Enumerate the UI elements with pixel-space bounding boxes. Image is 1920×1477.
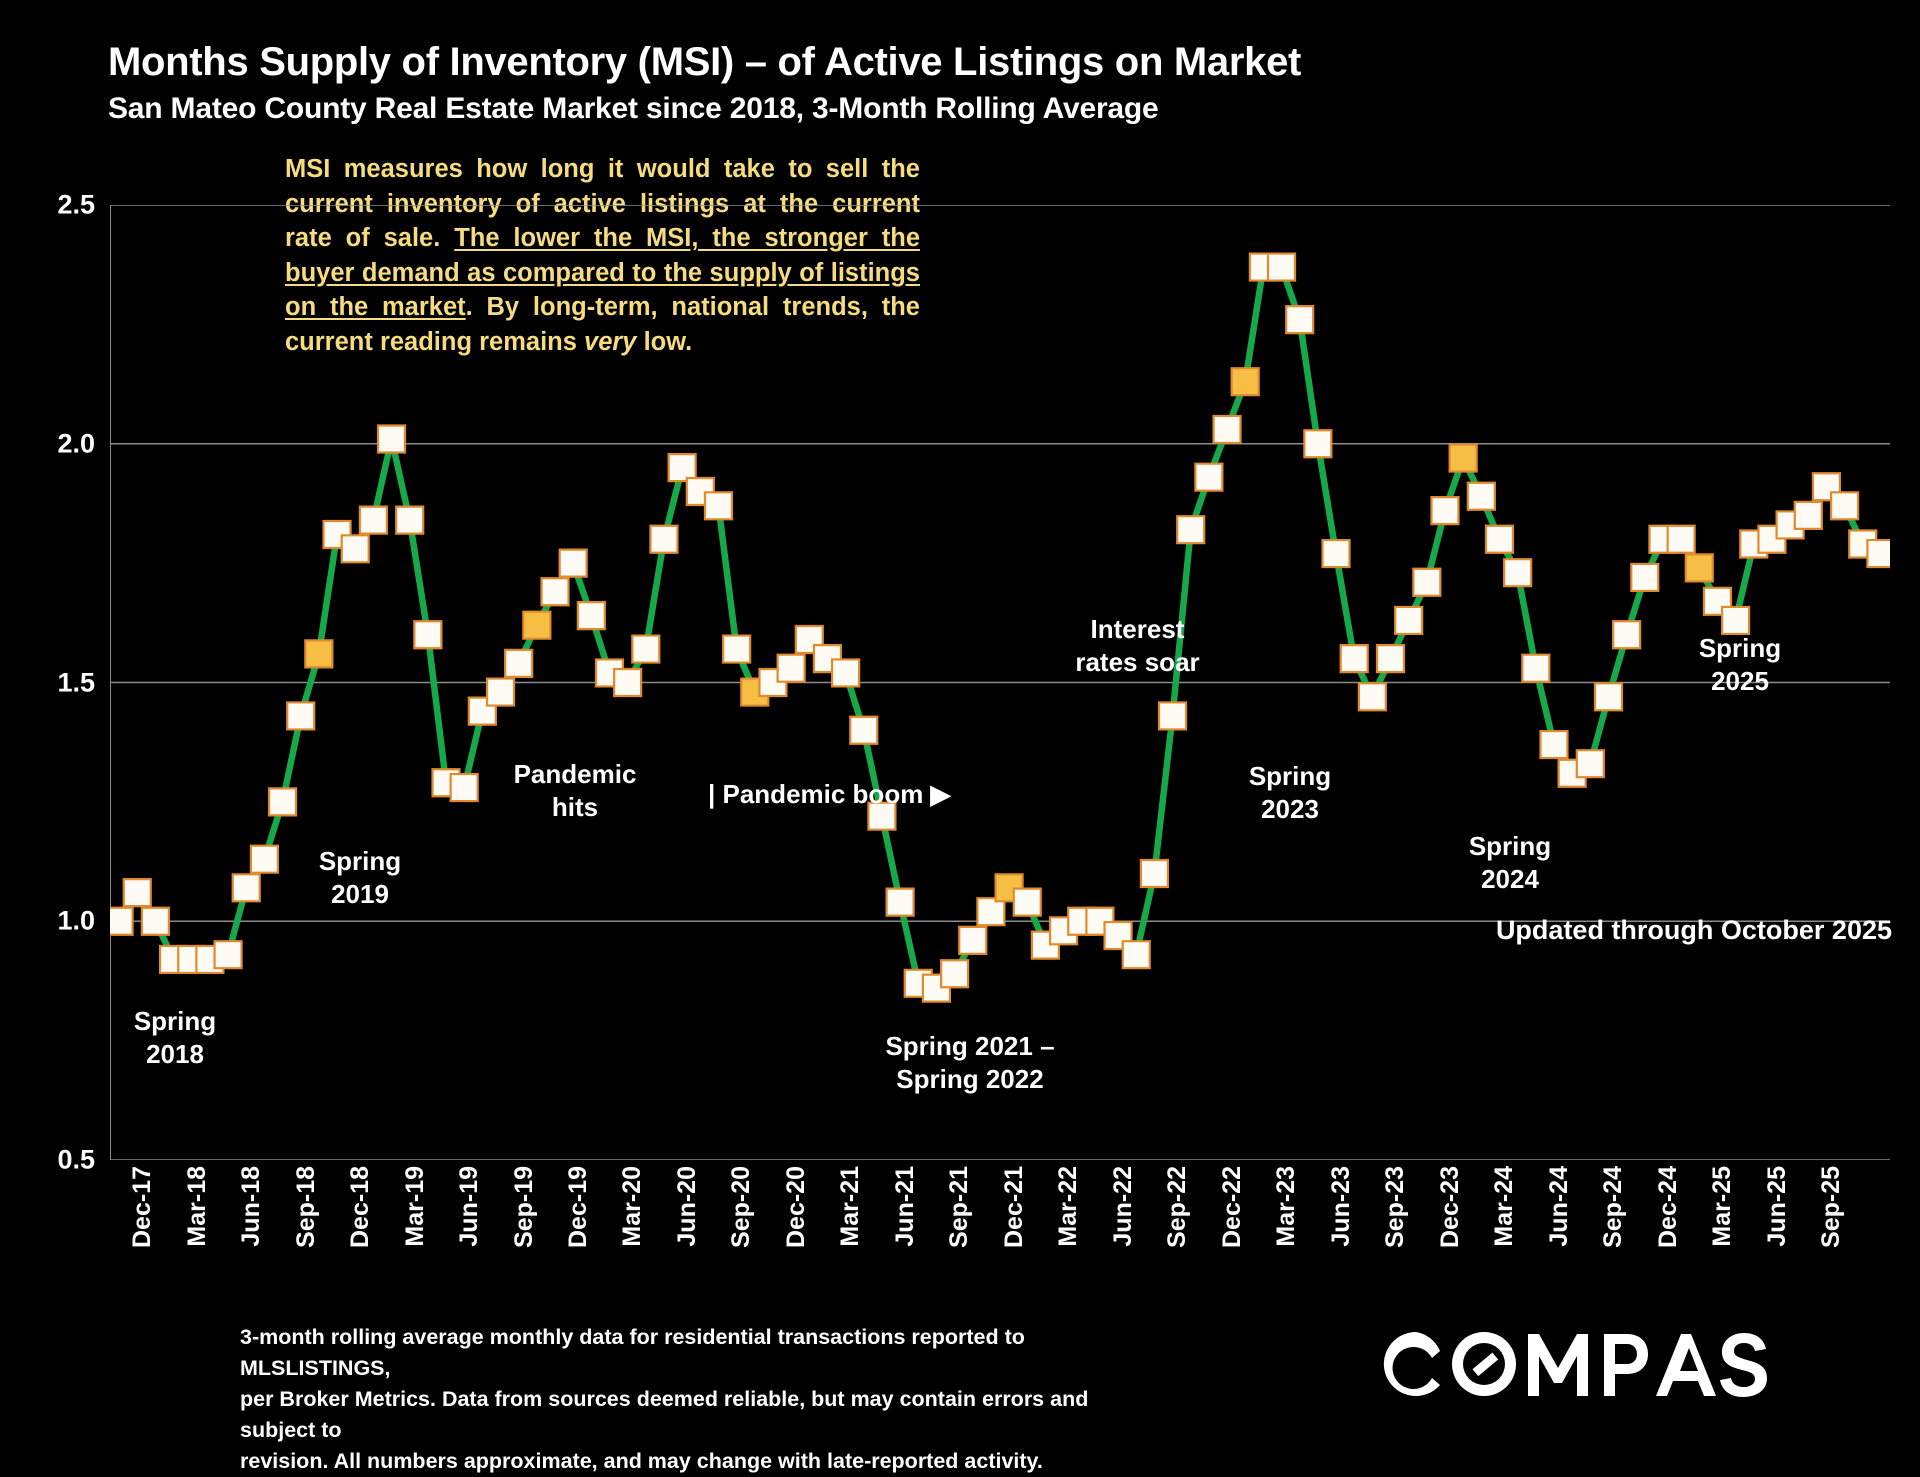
data-point-marker — [1595, 683, 1622, 710]
data-point-marker — [378, 425, 405, 452]
msi-line-chart — [110, 205, 1890, 1160]
annotation-spring-2023: Spring 2023 — [1215, 760, 1365, 826]
data-point-marker — [1395, 607, 1422, 634]
data-point-marker — [1177, 516, 1204, 543]
x-tick-label: Dec-22 — [1218, 1166, 1247, 1248]
data-point-marker — [287, 702, 314, 729]
annotation-pandemic-hits: Pandemic hits — [500, 758, 650, 824]
data-point-marker — [1304, 430, 1331, 457]
x-tick-label: Sep-21 — [945, 1166, 974, 1248]
x-tick-label: Dec-23 — [1436, 1166, 1465, 1248]
data-point-marker — [342, 535, 369, 562]
annotation-spring-2021-2022: Spring 2021 – Spring 2022 — [830, 1030, 1110, 1096]
page-title: Months Supply of Inventory (MSI) – of Ac… — [108, 40, 1301, 85]
data-point-marker — [1486, 526, 1513, 553]
slide-canvas: Months Supply of Inventory (MSI) – of Ac… — [0, 0, 1920, 1440]
data-point-marker — [251, 846, 278, 873]
y-tick-label: 2.5 — [25, 190, 95, 221]
data-point-marker — [505, 650, 532, 677]
x-tick-label: Mar-25 — [1708, 1166, 1737, 1247]
data-point-marker — [215, 941, 242, 968]
data-point-marker — [1504, 559, 1531, 586]
data-point-marker-highlight — [305, 640, 332, 667]
y-axis-labels: 0.51.01.52.02.5 — [25, 205, 95, 1160]
x-tick-label: Mar-21 — [836, 1166, 865, 1247]
data-point-marker — [124, 879, 151, 906]
x-axis-labels: Dec-17Mar-18Jun-18Sep-18Dec-18Mar-19Jun-… — [110, 1166, 1890, 1296]
data-point-marker — [1286, 306, 1313, 333]
x-tick-label: Mar-22 — [1054, 1166, 1083, 1247]
data-point-marker — [650, 526, 677, 553]
data-point-marker — [269, 788, 296, 815]
data-point-marker-highlight — [1450, 445, 1477, 472]
x-tick-label: Mar-23 — [1272, 1166, 1301, 1247]
x-tick-label: Sep-24 — [1599, 1166, 1628, 1248]
x-tick-label: Sep-25 — [1817, 1166, 1846, 1248]
footer-line-1: 3-month rolling average monthly data for… — [240, 1322, 1120, 1384]
data-point-marker — [560, 550, 587, 577]
data-point-marker — [1159, 702, 1186, 729]
data-point-marker — [451, 774, 478, 801]
data-point-marker — [632, 636, 659, 663]
annotation-spring-2025: Spring 2025 — [1665, 632, 1815, 698]
data-point-marker-highlight — [523, 612, 550, 639]
data-point-marker — [1123, 941, 1150, 968]
data-point-marker — [1341, 645, 1368, 672]
x-tick-label: Dec-20 — [782, 1166, 811, 1248]
data-point-marker — [959, 927, 986, 954]
x-tick-label: Jun-23 — [1327, 1166, 1356, 1247]
x-tick-label: Jun-20 — [673, 1166, 702, 1247]
data-point-marker — [887, 889, 914, 916]
x-tick-label: Mar-18 — [183, 1166, 212, 1247]
data-point-marker — [1359, 683, 1386, 710]
data-point-marker — [1413, 569, 1440, 596]
data-point-marker — [1631, 564, 1658, 591]
data-point-marker — [1722, 607, 1749, 634]
data-point-marker — [1377, 645, 1404, 672]
annotation-spring-2019: Spring 2019 — [285, 845, 435, 911]
data-point-marker-highlight — [1686, 554, 1713, 581]
annotation-spring-2018: Spring 2018 — [100, 1005, 250, 1071]
x-tick-label: Dec-21 — [1000, 1166, 1029, 1248]
data-point-marker — [778, 655, 805, 682]
data-point-marker — [1268, 254, 1295, 281]
data-point-marker — [1831, 492, 1858, 519]
x-tick-label: Jun-24 — [1545, 1166, 1574, 1247]
data-point-marker — [850, 717, 877, 744]
data-point-marker — [1668, 526, 1695, 553]
y-tick-label: 1.0 — [25, 906, 95, 937]
data-point-marker — [360, 507, 387, 534]
data-point-marker — [110, 908, 133, 935]
x-tick-label: Mar-19 — [401, 1166, 430, 1247]
data-point-marker — [142, 908, 169, 935]
x-tick-label: Sep-23 — [1381, 1166, 1410, 1248]
data-point-marker — [1195, 464, 1222, 491]
data-point-marker — [1323, 540, 1350, 567]
x-tick-label: Jun-18 — [237, 1166, 266, 1247]
x-tick-label: Sep-19 — [510, 1166, 539, 1248]
data-point-marker — [578, 602, 605, 629]
y-tick-label: 1.5 — [25, 667, 95, 698]
data-point-marker — [1540, 731, 1567, 758]
y-tick-label: 0.5 — [25, 1145, 95, 1176]
x-tick-label: Dec-18 — [346, 1166, 375, 1248]
data-point-marker — [1214, 416, 1241, 443]
x-tick-label: Dec-24 — [1654, 1166, 1683, 1248]
data-point-marker — [1867, 540, 1890, 567]
annotation-pandemic-boom: | Pandemic boom ▶ — [708, 778, 951, 811]
data-point-marker — [1432, 497, 1459, 524]
data-point-marker — [1141, 860, 1168, 887]
x-tick-label: Jun-25 — [1763, 1166, 1792, 1247]
y-tick-label: 2.0 — [25, 428, 95, 459]
x-tick-label: Dec-17 — [128, 1166, 157, 1248]
footer-line-2: per Broker Metrics. Data from sources de… — [240, 1384, 1120, 1446]
data-point-marker — [614, 669, 641, 696]
updated-through-label: Updated through October 2025 — [1496, 915, 1892, 946]
chart-plot-area — [110, 205, 1890, 1160]
footer-line-3: revision. All numbers approximate, and m… — [240, 1446, 1120, 1477]
x-tick-label: Jun-21 — [891, 1166, 920, 1247]
data-point-marker — [233, 874, 260, 901]
data-point-marker — [941, 960, 968, 987]
data-point-marker — [832, 659, 859, 686]
x-tick-label: Sep-20 — [727, 1166, 756, 1248]
footer-disclaimer: 3-month rolling average monthly data for… — [240, 1322, 1120, 1477]
data-point-marker — [1613, 621, 1640, 648]
data-point-marker — [542, 578, 569, 605]
compass-logo — [1380, 1328, 1780, 1400]
data-point-marker — [1014, 889, 1041, 916]
data-point-marker-highlight — [1232, 368, 1259, 395]
data-point-marker — [723, 636, 750, 663]
data-point-marker — [1522, 655, 1549, 682]
x-tick-label: Jun-19 — [455, 1166, 484, 1247]
data-point-marker — [1795, 502, 1822, 529]
data-point-marker — [1468, 483, 1495, 510]
x-tick-label: Jun-22 — [1109, 1166, 1138, 1247]
data-point-marker — [705, 492, 732, 519]
x-tick-label: Mar-24 — [1490, 1166, 1519, 1247]
annotation-spring-2024: Spring 2024 — [1435, 830, 1585, 896]
data-point-marker — [414, 621, 441, 648]
x-tick-label: Sep-18 — [292, 1166, 321, 1248]
x-tick-label: Sep-22 — [1163, 1166, 1192, 1248]
data-point-marker — [487, 679, 514, 706]
data-point-marker — [396, 507, 423, 534]
page-subtitle: San Mateo County Real Estate Market sinc… — [108, 92, 1159, 126]
data-point-marker — [1577, 750, 1604, 777]
x-tick-label: Dec-19 — [564, 1166, 593, 1248]
x-tick-label: Mar-20 — [618, 1166, 647, 1247]
annotation-interest-rates-soar: Interest rates soar — [1030, 613, 1245, 679]
